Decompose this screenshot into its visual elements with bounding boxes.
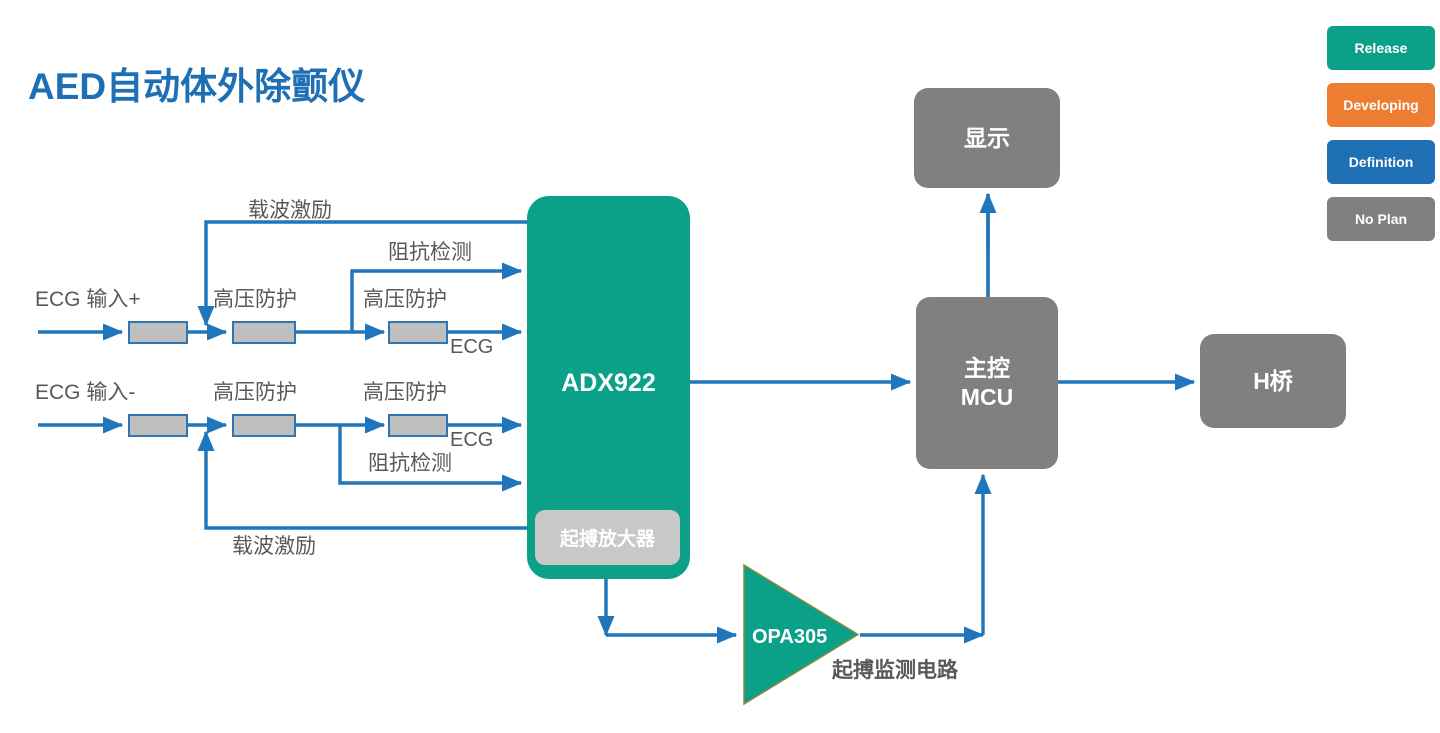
hv-protection-box-4[interactable]: [128, 414, 188, 437]
block-hbridge[interactable]: H桥: [1200, 334, 1346, 428]
hv-protection-box-2[interactable]: [232, 321, 296, 344]
label-hv-protection-1: 高压防护: [213, 289, 297, 310]
status-legend: Release Developing Definition No Plan: [1327, 26, 1435, 254]
label-carrier-excitation-bottom: 载波激励: [232, 536, 316, 557]
label-impedance-detection-bottom: 阻抗检测: [368, 453, 452, 474]
block-opa305-label: OPA305: [752, 626, 827, 649]
label-ecg-bottom: ECG: [450, 430, 493, 450]
legend-label-definition: Definition: [1349, 154, 1414, 170]
legend-item-developing[interactable]: Developing: [1327, 83, 1435, 127]
block-mcu-label-line2: MCU: [961, 383, 1013, 412]
label-ecg-top: ECG: [450, 337, 493, 357]
block-hbridge-label: H桥: [1253, 367, 1293, 396]
block-display-label: 显示: [964, 124, 1010, 153]
label-carrier-excitation-top: 载波激励: [248, 200, 332, 221]
hv-protection-box-1[interactable]: [128, 321, 188, 344]
diagram-canvas: AED自动体外除颤仪: [0, 0, 1440, 733]
hv-protection-box-3[interactable]: [388, 321, 448, 344]
label-pacing-monitor-circuit: 起搏监测电路: [832, 660, 958, 681]
hv-protection-box-5[interactable]: [232, 414, 296, 437]
label-ecg-input-minus: ECG 输入-: [35, 382, 135, 403]
legend-item-release[interactable]: Release: [1327, 26, 1435, 70]
block-display[interactable]: 显示: [914, 88, 1060, 188]
legend-item-definition[interactable]: Definition: [1327, 140, 1435, 184]
legend-label-no-plan: No Plan: [1355, 211, 1407, 227]
label-hv-protection-5: 高压防护: [363, 382, 447, 403]
legend-label-developing: Developing: [1343, 97, 1418, 113]
block-mcu[interactable]: 主控 MCU: [916, 297, 1058, 469]
page-title: AED自动体外除颤仪: [28, 56, 365, 110]
hv-protection-box-6[interactable]: [388, 414, 448, 437]
label-hv-protection-2: 高压防护: [363, 289, 447, 310]
block-pacing-amplifier-label: 起搏放大器: [560, 524, 655, 551]
block-adx922-label: ADX922: [527, 368, 690, 399]
block-pacing-amplifier[interactable]: 起搏放大器: [535, 510, 680, 565]
block-mcu-label-line1: 主控: [964, 354, 1010, 383]
legend-label-release: Release: [1355, 40, 1408, 56]
label-impedance-detection-top: 阻抗检测: [388, 242, 472, 263]
label-ecg-input-plus: ECG 输入+: [35, 289, 141, 310]
label-hv-protection-4: 高压防护: [213, 382, 297, 403]
legend-item-no-plan[interactable]: No Plan: [1327, 197, 1435, 241]
